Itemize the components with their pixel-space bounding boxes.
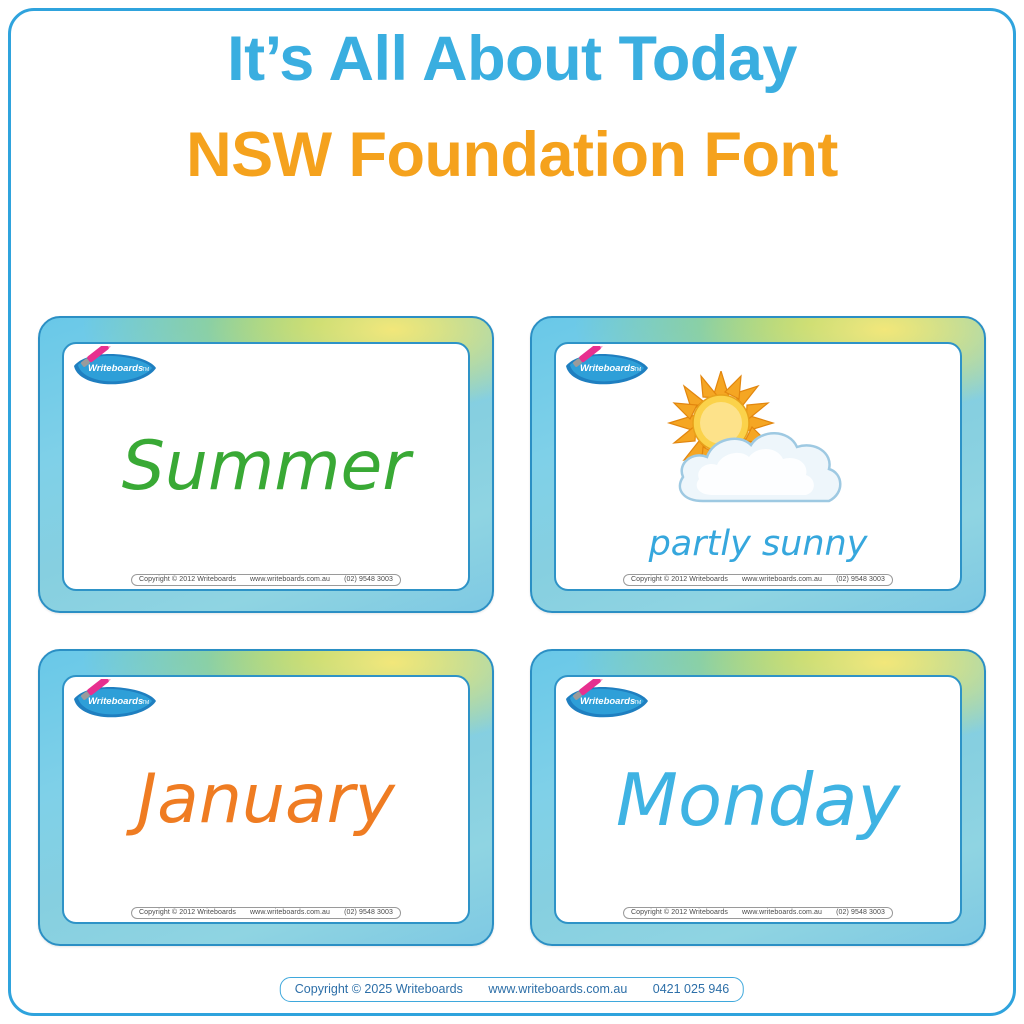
card-monday-inner: Writeboards TM Monday Copyright © 2012 W…	[554, 675, 962, 924]
page-subtitle: NSW Foundation Font	[0, 122, 1024, 188]
page-title-block: It’s All About Today NSW Foundation Font	[0, 26, 1024, 188]
writeboards-logo-icon: Writeboards TM	[68, 679, 164, 729]
footer-phone: 0421 025 946	[653, 982, 729, 996]
card-word: partly sunny	[649, 527, 868, 562]
writeboards-logo-icon: Writeboards TM	[68, 346, 164, 396]
page-footer: Copyright © 2025 Writeboards www.writebo…	[280, 977, 744, 1002]
card-copyright-website: www.writeboards.com.au	[742, 576, 822, 583]
card-copyright-website: www.writeboards.com.au	[742, 909, 822, 916]
card-monday[interactable]: Writeboards TM Monday Copyright © 2012 W…	[530, 649, 986, 946]
svg-text:TM: TM	[634, 700, 641, 706]
card-copyright-phone: (02) 9548 3003	[836, 909, 885, 916]
card-copyright-phone: (02) 9548 3003	[344, 576, 393, 583]
footer-website[interactable]: www.writeboards.com.au	[488, 982, 627, 996]
card-copyright-text: Copyright © 2012 Writeboards	[631, 909, 728, 916]
card-partly-sunny-inner: Writeboards TM	[554, 342, 962, 591]
card-copyright-website: www.writeboards.com.au	[250, 576, 330, 583]
svg-text:Writeboards: Writeboards	[580, 363, 635, 374]
svg-text:Writeboards: Writeboards	[88, 363, 143, 374]
svg-text:TM: TM	[142, 367, 149, 373]
writeboards-logo-icon: Writeboards TM	[560, 679, 656, 729]
card-copyright-strip: Copyright © 2012 Writeboards www.writebo…	[623, 907, 893, 919]
card-summer[interactable]: Writeboards TM Summer Copyright © 2012 W…	[38, 316, 494, 613]
card-copyright-text: Copyright © 2012 Writeboards	[631, 576, 728, 583]
card-word: Summer	[122, 433, 411, 501]
card-copyright-strip: Copyright © 2012 Writeboards www.writebo…	[131, 907, 401, 919]
writeboards-logo-icon: Writeboards TM	[560, 346, 656, 396]
footer-copyright: Copyright © 2025 Writeboards	[295, 982, 463, 996]
card-copyright-text: Copyright © 2012 Writeboards	[139, 576, 236, 583]
svg-text:TM: TM	[142, 700, 149, 706]
card-summer-inner: Writeboards TM Summer Copyright © 2012 W…	[62, 342, 470, 591]
card-copyright-strip: Copyright © 2012 Writeboards www.writebo…	[623, 574, 893, 586]
card-partly-sunny[interactable]: Writeboards TM	[530, 316, 986, 613]
card-january-inner: Writeboards TM January Copyright © 2012 …	[62, 675, 470, 924]
sun-behind-cloud-icon	[643, 371, 873, 531]
svg-text:Writeboards: Writeboards	[580, 696, 635, 707]
flashcard-grid: Writeboards TM Summer Copyright © 2012 W…	[38, 316, 986, 946]
card-copyright-strip: Copyright © 2012 Writeboards www.writebo…	[131, 574, 401, 586]
card-copyright-phone: (02) 9548 3003	[836, 576, 885, 583]
poster-page: It’s All About Today NSW Foundation Font…	[0, 0, 1024, 1024]
svg-text:TM: TM	[634, 367, 641, 373]
card-copyright-website: www.writeboards.com.au	[250, 909, 330, 916]
page-title: It’s All About Today	[0, 26, 1024, 92]
card-copyright-phone: (02) 9548 3003	[344, 909, 393, 916]
card-word: January	[137, 766, 395, 834]
card-word: Monday	[616, 764, 900, 836]
card-january[interactable]: Writeboards TM January Copyright © 2012 …	[38, 649, 494, 946]
svg-text:Writeboards: Writeboards	[88, 696, 143, 707]
card-copyright-text: Copyright © 2012 Writeboards	[139, 909, 236, 916]
